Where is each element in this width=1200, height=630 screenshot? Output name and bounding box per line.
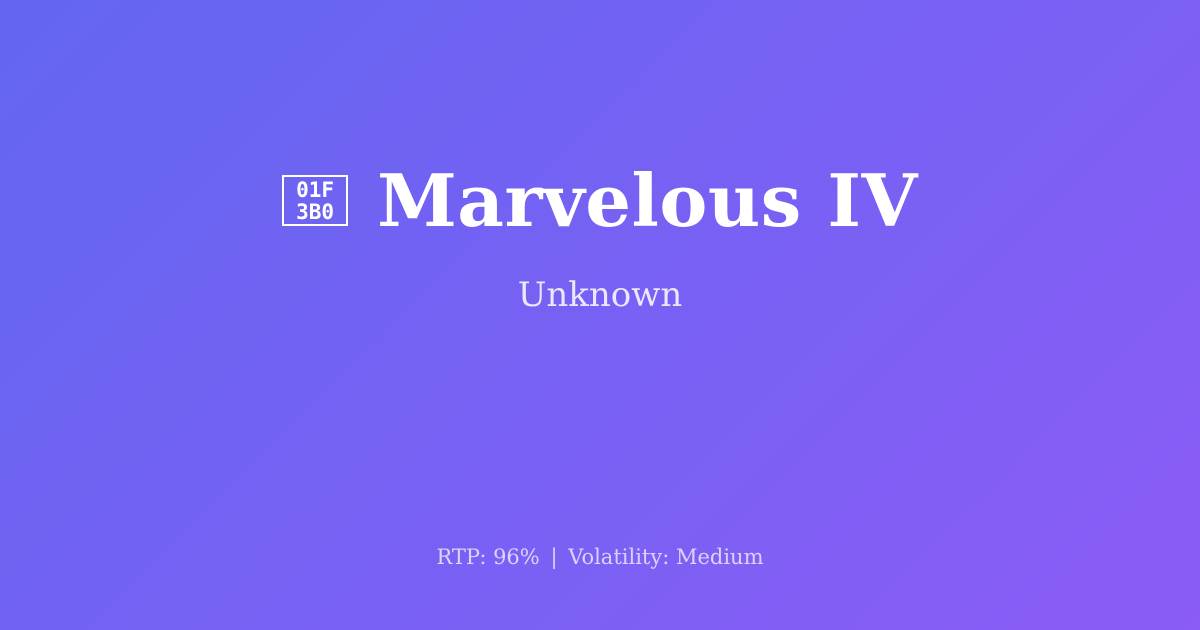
card-subtitle: Unknown — [518, 275, 683, 316]
volatility-value: Volatility: Medium — [568, 545, 763, 569]
card-title-row: 01F 3B0 Marvelous IV — [282, 165, 918, 237]
page-title: Marvelous IV — [377, 165, 918, 237]
slot-machine-icon: 01F 3B0 — [282, 175, 348, 226]
game-info-card: 01F 3B0 Marvelous IV Unknown RTP: 96% | … — [0, 0, 1200, 630]
slot-machine-icon-codepoint-low: 3B0 — [296, 201, 334, 223]
card-center-stack: 01F 3B0 Marvelous IV Unknown — [0, 0, 1200, 498]
meta-separator: | — [546, 545, 561, 569]
card-footer-meta: RTP: 96% | Volatility: Medium — [0, 545, 1200, 570]
slot-machine-icon-codepoint-high: 01F — [296, 179, 334, 201]
rtp-value: RTP: 96% — [436, 545, 539, 569]
